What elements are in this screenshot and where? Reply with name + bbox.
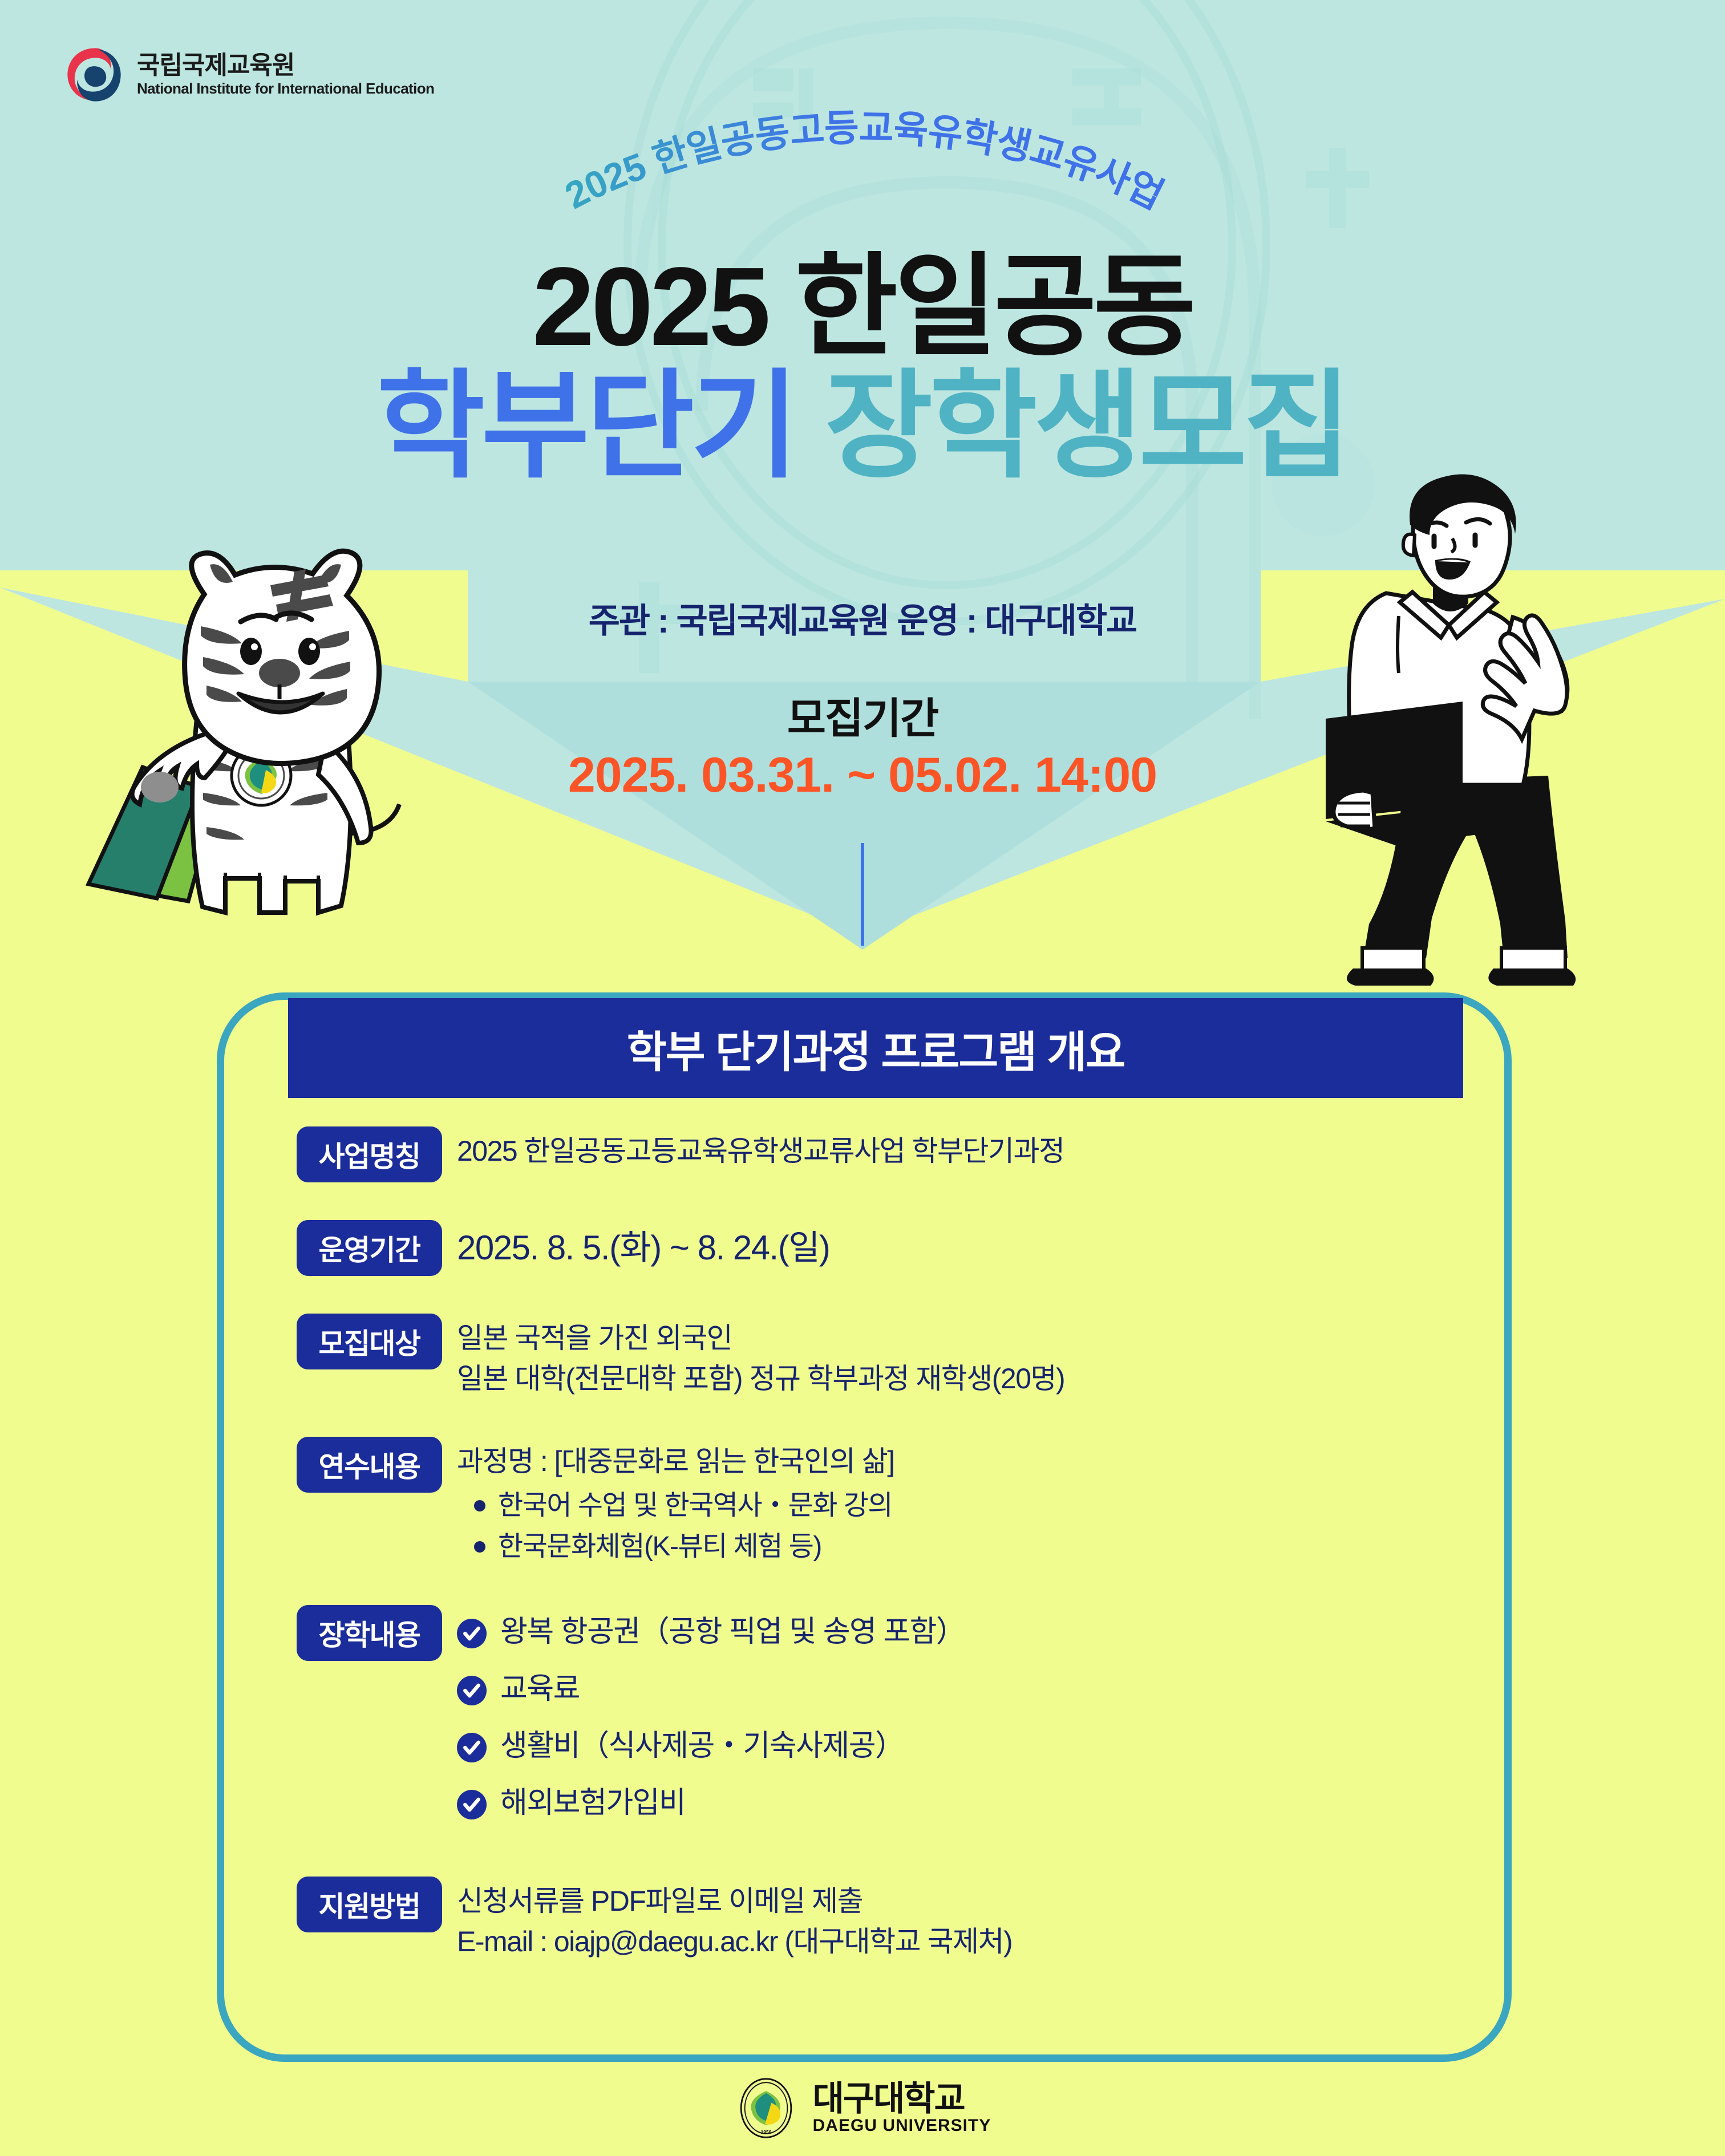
vertical-divider: [861, 843, 864, 946]
check-circle-icon: [457, 1733, 487, 1762]
info-row: 연수내용 과정명 : [대중문화로 읽는 한국인의 삶] 한국어 수업 및 한국…: [297, 1437, 1506, 1567]
benefit-text: 교육료: [500, 1667, 580, 1711]
bullet-text: 한국어 수업 및 한국역사・문화 강의: [498, 1485, 892, 1526]
period-label: 모집기간: [0, 684, 1725, 745]
check-circle-icon: [457, 1619, 487, 1648]
check-circle-icon: [457, 1676, 487, 1705]
host-operator-line: 주관 : 국립국제교육원 운영 : 대구대학교: [0, 593, 1725, 643]
info-row: 모집대상 일본 국적을 가진 외국인 일본 대학(전문대학 포함) 정규 학부과…: [297, 1314, 1506, 1399]
bullet-dot-icon: [474, 1500, 485, 1511]
benefit-list-item: 교육료: [457, 1667, 965, 1711]
row-tag: 지원방법: [297, 1877, 442, 1932]
benefit-text: 해외보험가입비: [500, 1781, 685, 1825]
university-name-ko: 대구대학교: [813, 2082, 991, 2116]
program-overview-title: 학부 단기과정 프로그램 개요: [627, 1017, 1124, 1080]
period-date: 2025. 03.31. ~ 05.02. 14:00: [0, 747, 1725, 804]
taegeuk-swirl-icon: [64, 44, 124, 105]
info-row: 사업명칭 2025 한일공동고등교육유학생교류사업 학부단기과정: [297, 1126, 1506, 1182]
benefit-text: 생활비（식사제공・기숙사제공）: [500, 1724, 904, 1768]
title-line-2: 학부단기 장학생모집: [0, 367, 1725, 485]
row-body: 일본 국적을 가진 외국인 일본 대학(전문대학 포함) 정규 학부과정 재학생…: [457, 1314, 1064, 1399]
benefit-text: 왕복 항공권（공항 픽업 및 송영 포함）: [500, 1610, 965, 1654]
benefit-list-item: 왕복 항공권（공항 픽업 및 송영 포함）: [457, 1610, 965, 1654]
bullet-dot-icon: [474, 1541, 485, 1553]
arc-text: 2025 한일공동고등교육유학생교유사업: [558, 107, 1170, 217]
row-line: 신청서류를 PDF파일로 이메일 제출: [457, 1881, 1012, 1922]
row-tag: 운영기간: [297, 1220, 442, 1276]
row-body: 신청서류를 PDF파일로 이메일 제출 E-mail : oiajp@daegu…: [457, 1877, 1012, 1962]
nie-org-en: National Institute for International Edu…: [137, 81, 434, 96]
bullet-list: 한국어 수업 및 한국역사・문화 강의 한국문화체험(K-뷰티 체험 등): [457, 1485, 894, 1567]
row-tag: 사업명칭: [297, 1126, 442, 1182]
row-line: 일본 국적을 가진 외국인: [457, 1318, 1064, 1359]
info-row: 지원방법 신청서류를 PDF파일로 이메일 제출 E-mail : oiajp@…: [297, 1877, 1506, 1962]
program-overview-header: 학부 단기과정 프로그램 개요: [288, 998, 1463, 1098]
program-overview-rows: 사업명칭 2025 한일공동고등교육유학생교류사업 학부단기과정 운영기간 20…: [297, 1126, 1506, 2000]
benefit-list-item: 해외보험가입비: [457, 1781, 965, 1825]
row-line: 2025. 8. 5.(화) ~ 8. 24.(일): [457, 1225, 829, 1271]
bullet-list-item: 한국문화체험(K-뷰티 체험 등): [457, 1526, 894, 1567]
row-line: 2025 한일공동고등교육유학생교류사업 학부단기과정: [457, 1131, 1064, 1172]
bullet-list-item: 한국어 수업 및 한국역사・문화 강의: [457, 1485, 894, 1526]
row-line: 일본 대학(전문대학 포함) 정규 학부과정 재학생(20명): [457, 1359, 1064, 1399]
row-tag: 모집대상: [297, 1314, 442, 1369]
daegu-seal-icon: 1956: [734, 2076, 798, 2140]
info-row: 장학내용 왕복 항공권（공항 픽업 및 송영 포함） 교육료: [297, 1605, 1506, 1825]
row-body: 과정명 : [대중문화로 읽는 한국인의 삶] 한국어 수업 및 한국역사・문화…: [457, 1437, 894, 1567]
daegu-university-logo: 1956 대구대학교 DAEGU UNIVERSITY: [0, 2076, 1725, 2140]
row-line-email: E-mail : oiajp@daegu.ac.kr (대구대학교 국제처): [457, 1922, 1012, 1962]
svg-text:2025 한일공동고등교육유학생교유사업: 2025 한일공동고등교육유학생교유사업: [558, 107, 1170, 217]
row-body: 2025. 8. 5.(화) ~ 8. 24.(일): [457, 1220, 829, 1271]
row-line: 과정명 : [대중문화로 읽는 한국인의 삶]: [457, 1441, 894, 1482]
nie-org-ko: 국립국제교육원: [137, 52, 434, 79]
title-line-2-part2: 장학생모집: [825, 360, 1349, 492]
check-circle-icon: [457, 1790, 487, 1819]
title-line-1: 2025 한일공동: [0, 251, 1725, 363]
row-body: 왕복 항공권（공항 픽업 및 송영 포함） 교육료 생활비（식사제공・기숙사제공…: [457, 1605, 965, 1825]
university-name-en: DAEGU UNIVERSITY: [813, 2117, 991, 2134]
benefit-list-item: 생활비（식사제공・기숙사제공）: [457, 1724, 965, 1768]
hero-title-block: 2025 한일공동 학부단기 장학생모집: [0, 251, 1725, 485]
bullet-text: 한국문화체험(K-뷰티 체험 등): [498, 1526, 821, 1567]
info-row: 운영기간 2025. 8. 5.(화) ~ 8. 24.(일): [297, 1220, 1506, 1276]
nie-logo: 국립국제교육원 National Institute for Internati…: [64, 44, 434, 105]
title-line-2-part1: 학부단기: [377, 360, 796, 492]
row-tag: 장학내용: [297, 1605, 442, 1661]
row-body: 2025 한일공동고등교육유학생교류사업 학부단기과정: [457, 1126, 1064, 1172]
seal-year: 1956: [760, 2129, 771, 2135]
row-tag: 연수내용: [297, 1437, 442, 1493]
